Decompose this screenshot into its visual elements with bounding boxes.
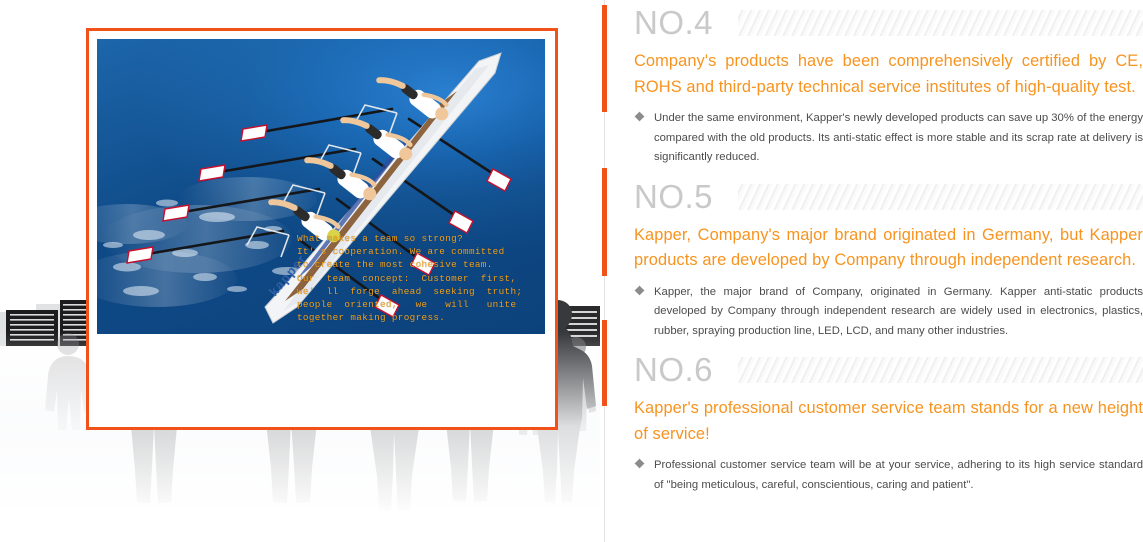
section-body-text: Kapper, the major brand of Company, orig… [654,283,1143,342]
section-no-6: NO.6 Kapper's professional customer serv… [634,341,1143,495]
section-no-5: NO.5 Kapper, Company's major brand origi… [634,168,1143,342]
section-title: Kapper, Company's major brand originated… [634,223,1143,274]
hatch-stripe-decoration [738,184,1143,210]
left-visual-panel: kapper What makes a team so strong? It' … [0,0,600,542]
section-header: NO.6 [634,351,1143,395]
section-title: Company's products have been comprehensi… [634,49,1143,100]
section-body: Professional customer service team will … [634,456,1143,495]
hatch-stripe-decoration [738,10,1143,36]
section-body: Under the same environment, Kapper's new… [634,109,1143,168]
diamond-bullet-icon [634,109,654,168]
rail-accent-segment-1 [602,5,607,112]
section-number: NO.5 [634,177,713,217]
section-number: NO.4 [634,3,713,43]
section-body-text: Professional customer service team will … [654,456,1143,495]
rail-accent-segment-3 [602,320,607,406]
photo-overlay-text: What makes a team so strong? It' s coope… [297,232,545,324]
section-body: Kapper, the major brand of Company, orig… [634,283,1143,342]
content-panel: NO.4 Company's products have been compre… [600,0,1143,542]
section-body-text: Under the same environment, Kapper's new… [654,109,1143,168]
diamond-bullet-icon [634,456,654,495]
rowing-team-photo: kapper What makes a team so strong? It' … [97,39,545,334]
rail-accent-segment-2 [602,168,607,276]
section-title: Kapper's professional customer service t… [634,396,1143,447]
diamond-bullet-icon [634,283,654,342]
section-no-4: NO.4 Company's products have been compre… [634,0,1143,168]
sections-list: NO.4 Company's products have been compre… [634,0,1143,495]
photo-frame: kapper What makes a team so strong? It' … [86,28,558,430]
section-header: NO.5 [634,178,1143,222]
section-number: NO.6 [634,350,713,390]
page-root: kapper What makes a team so strong? It' … [0,0,1143,542]
hatch-stripe-decoration [738,357,1143,383]
section-header: NO.4 [634,4,1143,48]
